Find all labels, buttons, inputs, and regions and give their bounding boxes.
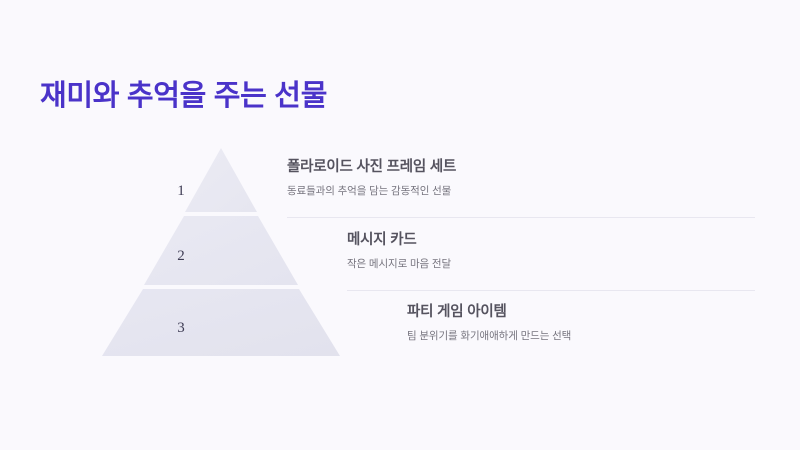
pyramid-item-3-description: 팀 분위기를 화기애애하게 만드는 선택	[407, 330, 571, 344]
pyramid-tier-number-1: 1	[161, 184, 201, 199]
pyramid-tier-number-2: 2	[161, 249, 201, 264]
item-divider-2	[347, 290, 755, 291]
pyramid-item-2-title: 메시지 카드	[347, 232, 451, 249]
pyramid-tier-3	[102, 289, 340, 356]
pyramid-item-1-description: 동료들과의 추억을 담는 감동적인 선물	[287, 185, 456, 199]
pyramid-item-1-title: 폴라로이드 사진 프레임 세트	[287, 159, 456, 176]
slide-canvas: 재미와 추억을 주는 선물 1 2 3	[0, 0, 800, 450]
pyramid-tier-number-3: 3	[161, 321, 201, 336]
pyramid-item-3-title: 파티 게임 아이템	[407, 304, 571, 321]
item-divider-1	[287, 217, 755, 218]
pyramid-tier-1	[185, 148, 257, 212]
page-title: 재미와 추억을 주는 선물	[40, 80, 327, 113]
pyramid-item-3: 파티 게임 아이템 팀 분위기를 화기애애하게 만드는 선택	[407, 304, 571, 344]
pyramid-item-1: 폴라로이드 사진 프레임 세트 동료들과의 추억을 담는 감동적인 선물	[287, 159, 456, 199]
pyramid-item-2: 메시지 카드 작은 메시지로 마음 전달	[347, 232, 451, 272]
pyramid-item-2-description: 작은 메시지로 마음 전달	[347, 258, 451, 272]
